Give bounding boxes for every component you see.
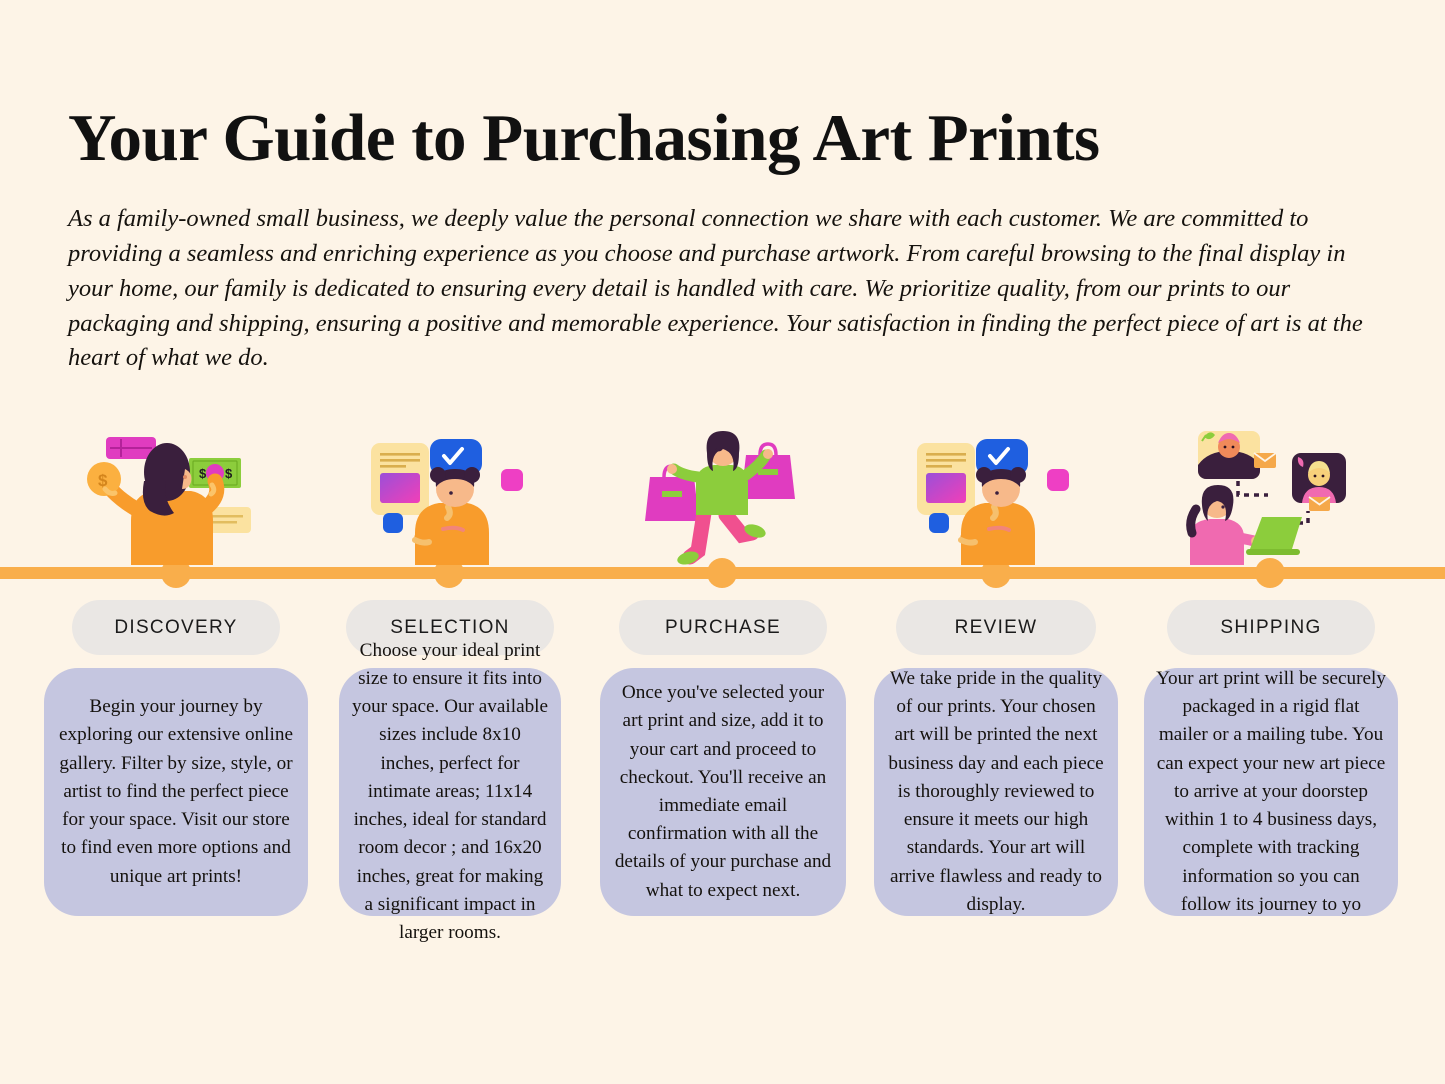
step-card-discovery: Begin your journey by exploring our exte… [44, 668, 308, 916]
person-at-laptop-network-icon [1176, 425, 1366, 565]
step-label-text: SELECTION [390, 617, 509, 639]
person-with-money-icon: $ $ $ [81, 425, 271, 565]
step-card-text: Once you've selected your art print and … [612, 679, 834, 905]
step-label-text: PURCHASE [665, 617, 781, 639]
step-card-text: Begin your journey by exploring our exte… [56, 693, 296, 891]
step-label-text: DISCOVERY [114, 617, 237, 639]
step-label-review[interactable]: REVIEW [896, 600, 1096, 655]
steps-row: $ $ $ [0, 0, 1445, 1084]
step-purchase: PURCHASE Once you've selected your art p… [600, 0, 846, 1084]
step-discovery: $ $ $ [44, 0, 308, 1084]
step-label-text: SHIPPING [1220, 617, 1321, 639]
svg-text:$: $ [225, 466, 233, 481]
step-review: REVIEW We take pride in the quality of o… [874, 0, 1118, 1084]
person-with-shopping-bags-icon [628, 425, 818, 565]
person-choosing-print-icon [355, 425, 545, 565]
person-reviewing-print-icon [901, 425, 1091, 565]
step-selection: SELECTION Choose your ideal print size t… [339, 0, 561, 1084]
step-label-shipping[interactable]: SHIPPING [1167, 600, 1375, 655]
step-card-text: We take pride in the quality of our prin… [886, 665, 1106, 919]
step-label-discovery[interactable]: DISCOVERY [72, 600, 280, 655]
svg-text:$: $ [199, 466, 207, 481]
step-shipping: SHIPPING Your art print will be securely… [1144, 0, 1398, 1084]
step-card-selection: Choose your ideal print size to ensure i… [339, 668, 561, 916]
infographic-page: Your Guide to Purchasing Art Prints As a… [0, 0, 1445, 1084]
step-card-shipping: Your art print will be securely packaged… [1144, 668, 1398, 916]
step-card-purchase: Once you've selected your art print and … [600, 668, 846, 916]
step-card-review: We take pride in the quality of our prin… [874, 668, 1118, 916]
step-card-text: Your art print will be securely packaged… [1156, 665, 1386, 919]
step-label-text: REVIEW [955, 617, 1038, 639]
step-card-text: Choose your ideal print size to ensure i… [351, 637, 549, 947]
step-label-purchase[interactable]: PURCHASE [619, 600, 827, 655]
